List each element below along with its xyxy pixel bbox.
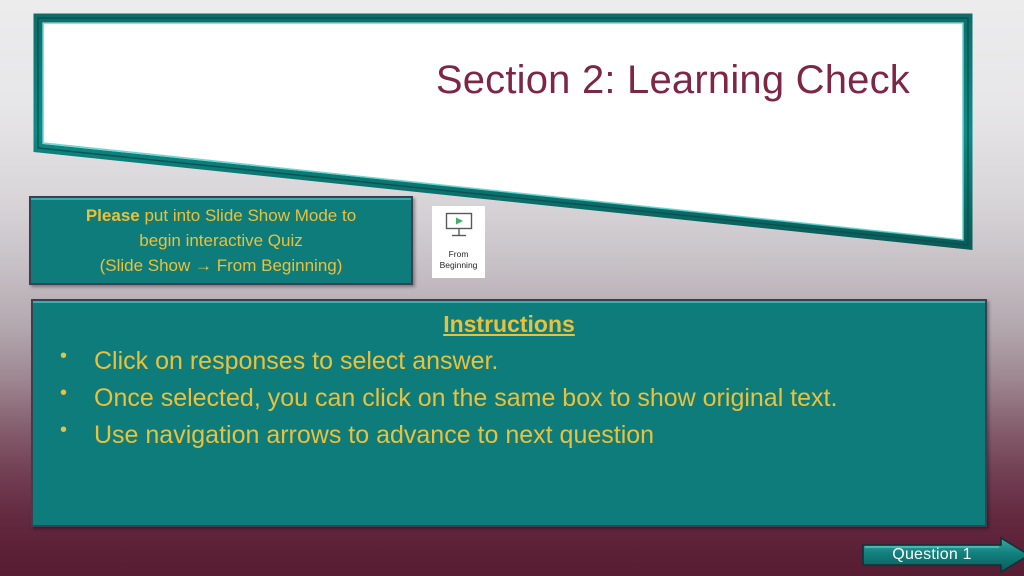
slideshow-instruction-callout: Please put into Slide Show Mode to begin… <box>29 196 413 285</box>
presentation-slide: Section 2: Learning Check Please put int… <box>0 0 1024 576</box>
right-arrow-icon <box>862 537 1024 573</box>
page-title: Section 2: Learning Check <box>60 58 940 102</box>
from-beginning-button[interactable]: From Beginning <box>432 206 485 278</box>
instructions-heading: Instructions <box>49 311 969 339</box>
list-item: Click on responses to select answer. <box>49 343 969 379</box>
please-line-3: (Slide Show → From Beginning) <box>100 253 343 278</box>
from-beginning-label-line2: Beginning <box>440 260 478 271</box>
from-beginning-label: From Beginning <box>440 249 478 270</box>
from-beginning-label-line1: From <box>440 249 478 260</box>
please-emphasis: Please <box>86 206 140 225</box>
list-item: Use navigation arrows to advance to next… <box>49 417 969 453</box>
instructions-panel: Instructions Click on responses to selec… <box>31 299 987 527</box>
please-line-1-rest: put into Slide Show Mode to <box>140 206 356 225</box>
presentation-play-icon <box>442 211 476 246</box>
next-question-button[interactable]: Question 1 <box>862 537 1024 573</box>
instructions-list: Click on responses to select answer. Onc… <box>49 343 969 453</box>
list-item: Once selected, you can click on the same… <box>49 380 969 416</box>
please-line-1: Please put into Slide Show Mode to <box>86 203 356 228</box>
please-line-2: begin interactive Quiz <box>139 228 302 253</box>
